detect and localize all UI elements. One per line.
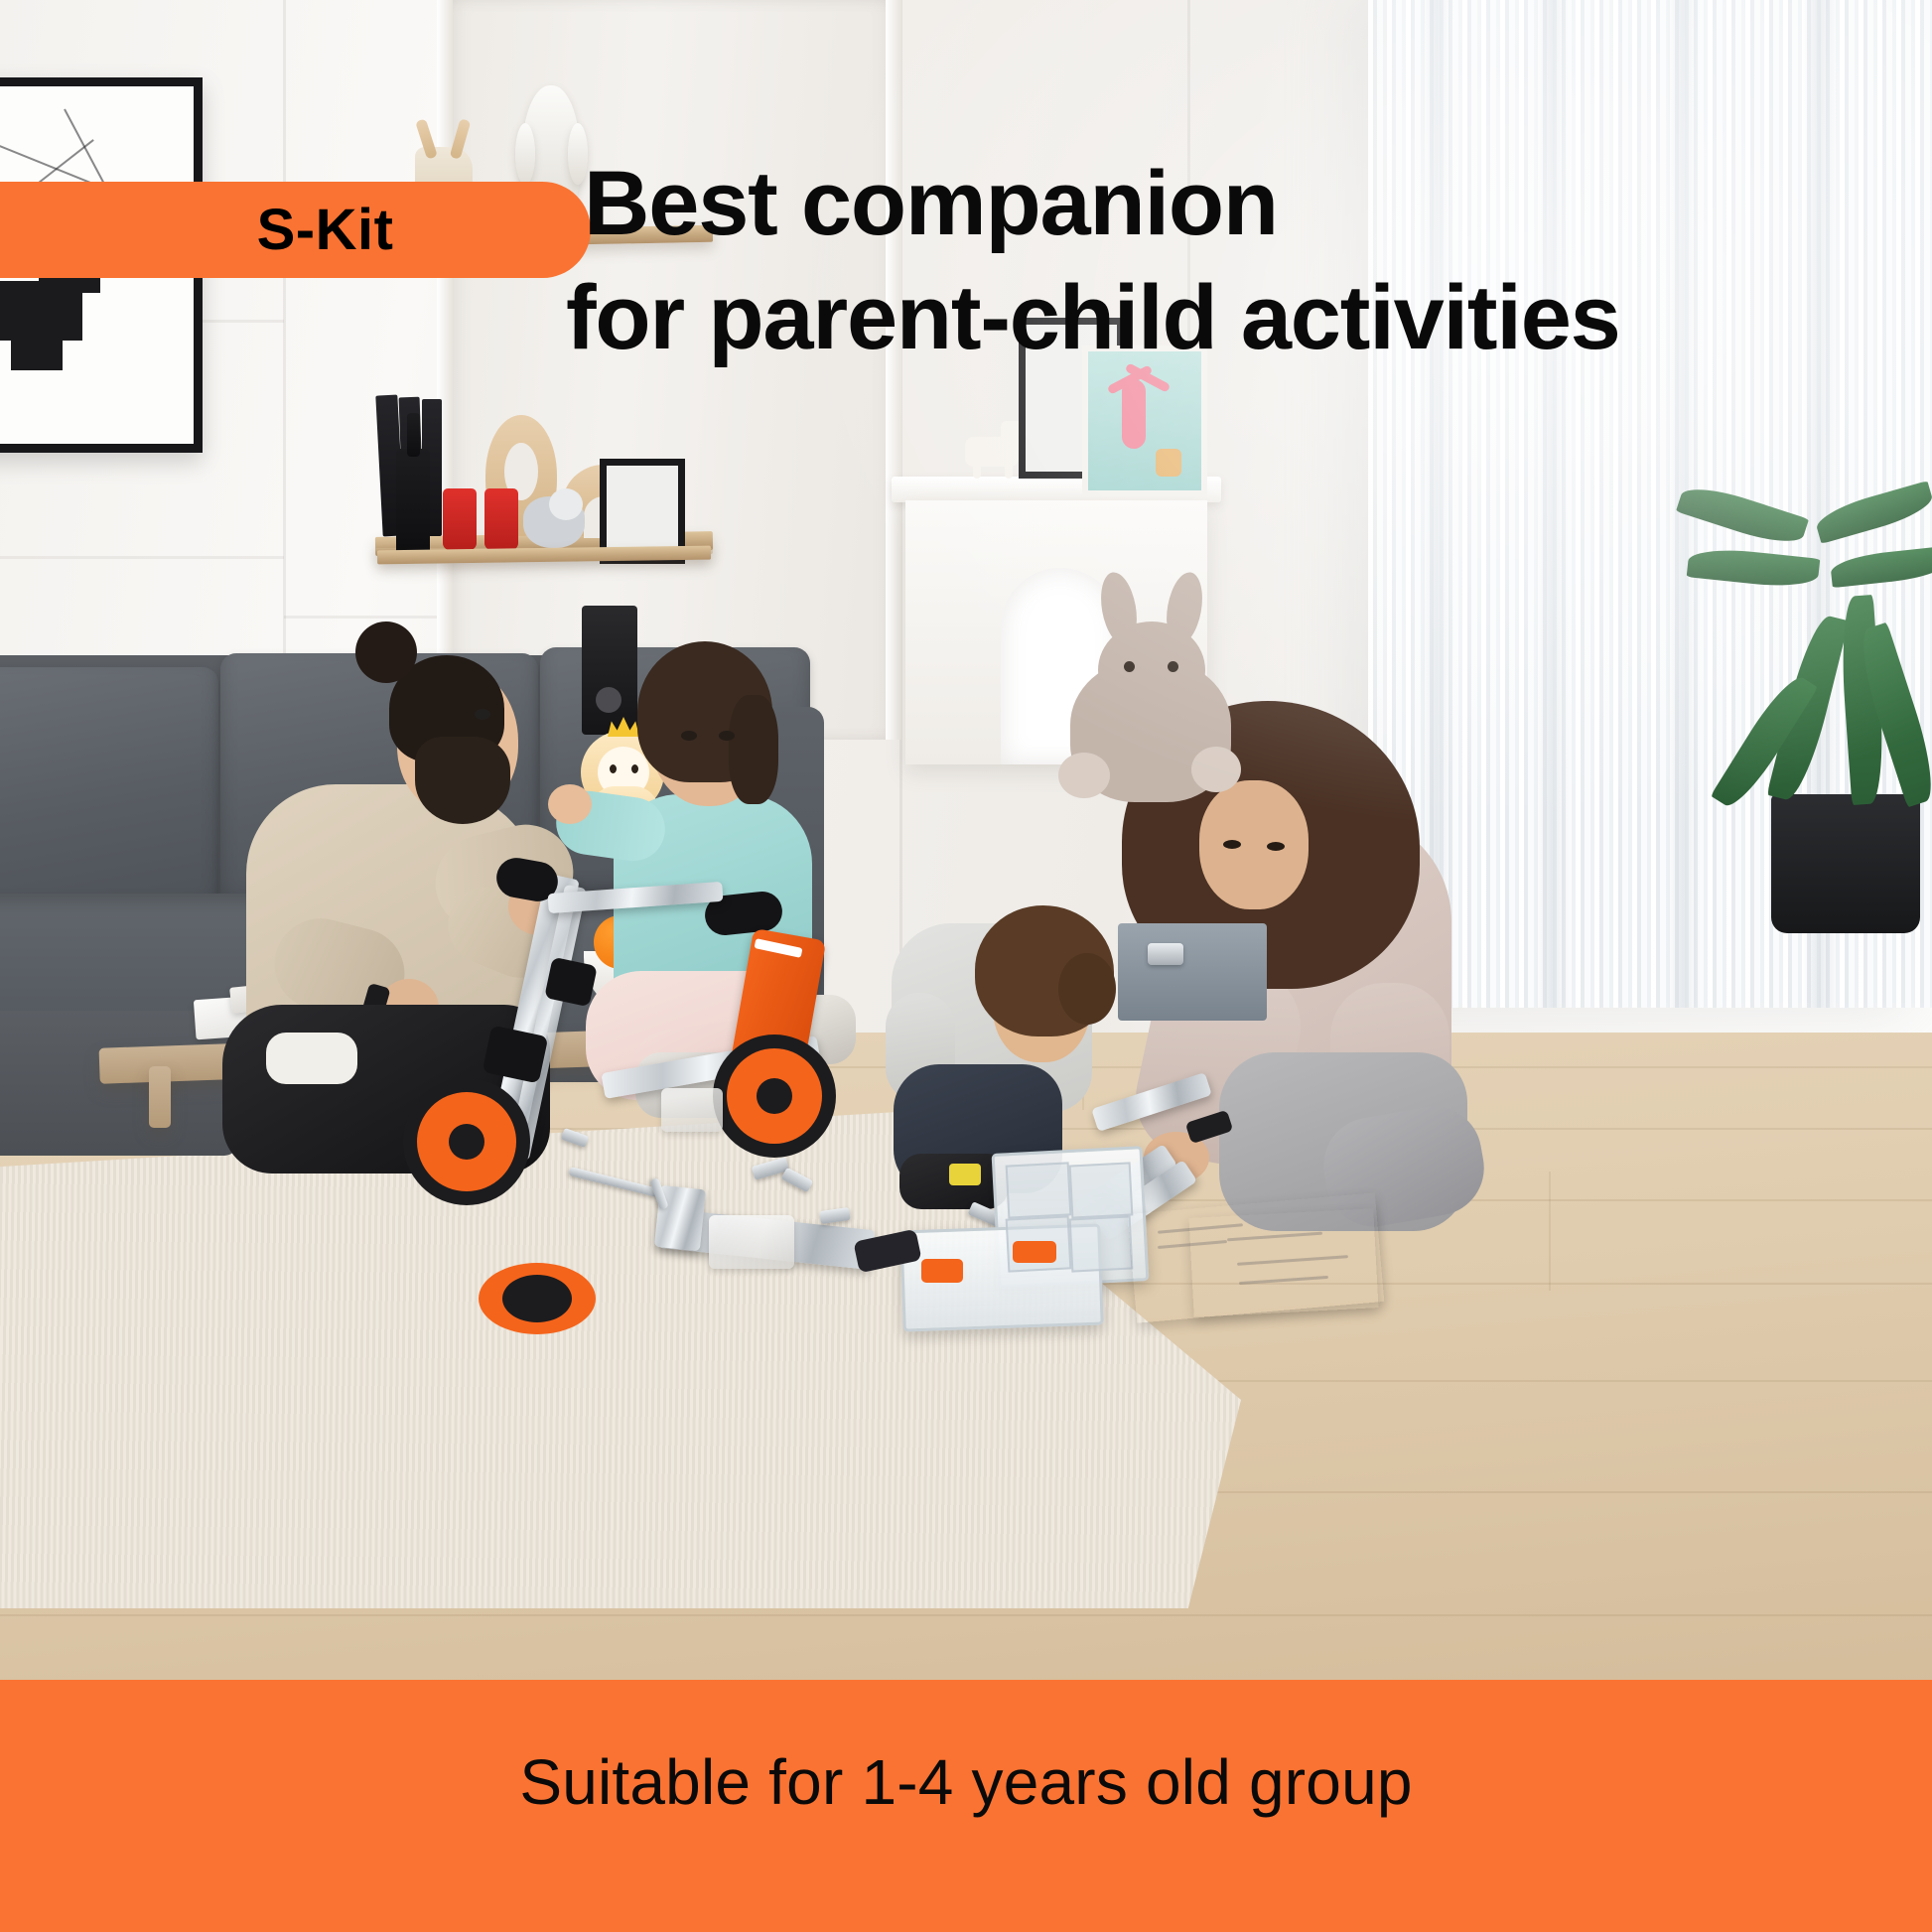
art-shape [11, 333, 63, 370]
organiser-orange-part [921, 1259, 963, 1283]
father-shoe [266, 1033, 357, 1084]
husky-plush-head [549, 488, 583, 520]
organiser-orange-part [1013, 1241, 1056, 1263]
mother-eye [1267, 842, 1285, 851]
floor-plank-line [0, 1614, 1932, 1616]
tool-crate [1118, 923, 1267, 1021]
wall-seam [283, 0, 286, 755]
lion-toy-eye [631, 764, 638, 773]
girl-eye [681, 731, 697, 741]
scooter-wheel-core-front [449, 1124, 484, 1160]
mantel-small-vase [1156, 449, 1181, 477]
organiser-cell [1069, 1215, 1134, 1272]
bunny-plush-eye [1168, 661, 1178, 672]
bunny-plush-foot [1058, 753, 1110, 798]
girl-hair-side [729, 695, 778, 804]
sofa-back-cushion-left [0, 667, 218, 915]
wine-bottle [396, 449, 430, 558]
mother-eye [1223, 840, 1241, 849]
brand-badge-label: S-Kit [138, 197, 394, 263]
organiser-cell [1006, 1162, 1072, 1218]
bunny-plush-foot [1191, 747, 1241, 792]
red-tumbler-2 [484, 488, 518, 550]
owl-figurine-wing [515, 123, 535, 185]
art-line [38, 139, 93, 184]
alcove-edge [437, 0, 453, 740]
product-poster: S-Kit Best companion for parent-child ac… [0, 0, 1932, 1932]
spare-wheel-hub [502, 1275, 572, 1322]
girl-eye [719, 731, 735, 741]
brand-badge: S-Kit [0, 182, 591, 278]
girl-hand [548, 784, 592, 824]
scooter-wheel-core-rear [757, 1078, 792, 1114]
floor-plank-seam [1549, 1172, 1551, 1291]
boy-shoe-logo [949, 1164, 981, 1185]
coffee-table-leg [149, 1066, 171, 1128]
speaker-driver [596, 687, 621, 713]
father-eye [475, 709, 490, 720]
boy-hair-curl [1058, 953, 1116, 1025]
footer-caption: Suitable for 1-4 years old group [0, 1745, 1932, 1819]
wall-panel-line [0, 556, 284, 559]
art-line [0, 144, 98, 187]
dog-figurine-leg [973, 461, 981, 479]
father-hair-bun [355, 621, 417, 683]
dog-figurine-leg [1005, 461, 1013, 479]
hardware-bag [709, 1215, 794, 1269]
lion-toy-eye [610, 764, 617, 773]
headline-line-2: for parent-child activities [566, 261, 1894, 375]
father-beard [415, 737, 510, 824]
red-tumbler-1 [443, 488, 477, 550]
poster-figure [1122, 379, 1146, 449]
crate-clasp [1148, 943, 1183, 965]
plant-pot [1771, 794, 1920, 933]
wine-bottle-neck [407, 413, 420, 457]
hardware-bag [661, 1088, 723, 1132]
mother-face [1199, 780, 1309, 909]
headline-line-1: Best companion [584, 153, 1278, 254]
speaker [582, 606, 637, 735]
headline: Best companion for parent-child activiti… [584, 147, 1894, 375]
wall-panel-line [284, 616, 453, 619]
bunny-plush-eye [1124, 661, 1135, 672]
organiser-cell [1069, 1162, 1134, 1218]
